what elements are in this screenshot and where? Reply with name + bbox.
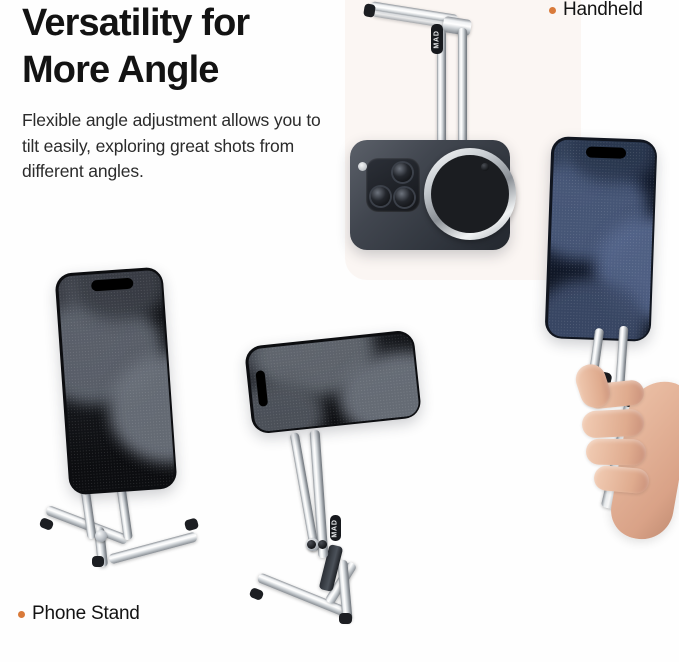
tripod-foot-rear	[92, 556, 104, 567]
caption-handheld: Handheld	[549, 0, 643, 21]
caption-phone-stand: Phone Stand	[18, 603, 140, 625]
phone-portrait-handheld	[545, 136, 658, 342]
bullet-dot-icon	[549, 7, 556, 14]
brand-label: MAD	[431, 24, 443, 54]
brand-label-text: MAD	[434, 30, 441, 48]
wallpaper	[57, 269, 175, 493]
stand-lock-knob	[307, 540, 316, 549]
camera-flash-icon	[358, 162, 367, 171]
caption-handheld-label: Handheld	[563, 0, 643, 21]
page-title: Versatility for More Angle	[22, 0, 342, 94]
stand-lock-knob-2	[318, 540, 327, 549]
phone-screen	[57, 269, 175, 493]
headline-line-2: More Angle	[22, 47, 342, 94]
stand-support-left	[80, 487, 96, 540]
caption-phone-stand-label: Phone Stand	[32, 603, 140, 625]
product-feature-image: Versatility for More Angle Flexible angl…	[0, 0, 679, 662]
tripod-foot-left	[249, 587, 265, 601]
brand-label: MAD	[330, 515, 341, 541]
camera-module	[366, 158, 420, 212]
stand-bar-right	[458, 28, 467, 148]
tripod-foot-left	[39, 517, 55, 531]
hand-finger-ring	[586, 438, 646, 465]
description-text: Flexible angle adjustment allows you to …	[22, 108, 342, 185]
camera-lens-3	[395, 188, 414, 207]
hand-finger-pinky	[593, 465, 650, 495]
ring-pin-icon	[481, 163, 489, 171]
phone-landscape-stand	[244, 329, 422, 434]
bullet-dot-icon	[18, 611, 25, 618]
phone-screen	[247, 332, 420, 432]
magsafe-ring-clamp	[424, 148, 516, 240]
camera-lens-2	[371, 187, 390, 206]
headline-line-1: Versatility for	[22, 2, 249, 44]
dynamic-island	[585, 146, 625, 158]
subcopy-line-1: Flexible angle adjustment allows you	[22, 110, 302, 130]
wallpaper	[547, 139, 655, 339]
tripod-foot-front	[339, 613, 352, 624]
wallpaper	[247, 332, 420, 432]
camera-lens-1	[393, 163, 412, 182]
hand-finger-middle	[581, 408, 644, 438]
tripod-foot-right	[184, 518, 199, 532]
stand-hinge	[95, 530, 107, 542]
brand-label-text: MAD	[332, 519, 339, 537]
phone-screen	[547, 139, 655, 339]
phone-portrait-stand	[54, 267, 177, 496]
